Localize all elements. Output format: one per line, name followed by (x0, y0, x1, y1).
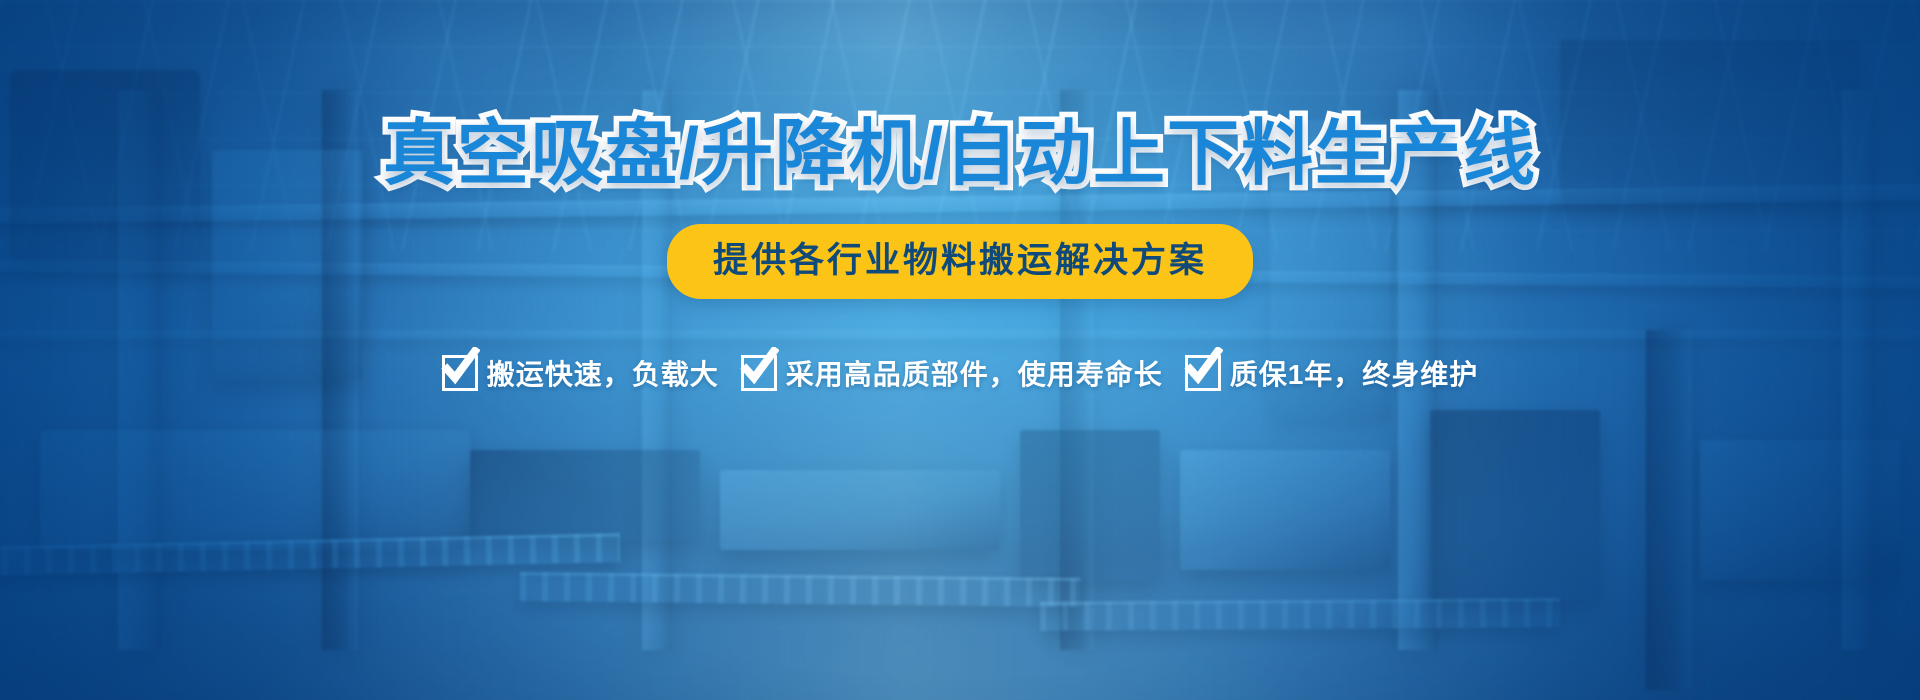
banner-content: 真空吸盘/升降机/自动上下料生产线 提供各行业物料搬运解决方案 搬运快速，负载大… (0, 0, 1920, 700)
banner-headline: 真空吸盘/升降机/自动上下料生产线 (383, 118, 1537, 190)
hero-banner: 真空吸盘/升降机/自动上下料生产线 提供各行业物料搬运解决方案 搬运快速，负载大… (0, 0, 1920, 700)
feature-label: 采用高品质部件，使用寿命长 (786, 353, 1163, 393)
feature-item: 搬运快速，负载大 (442, 353, 719, 393)
banner-subtitle-badge: 提供各行业物料搬运解决方案 (667, 224, 1253, 299)
feature-item: 质保1年，终身维护 (1185, 353, 1479, 393)
feature-label: 搬运快速，负载大 (487, 353, 719, 393)
feature-list: 搬运快速，负载大 采用高品质部件，使用寿命长 质保1年，终身维护 (442, 353, 1479, 393)
check-icon (442, 355, 478, 391)
check-icon (1185, 355, 1221, 391)
check-icon (741, 355, 777, 391)
feature-label: 质保1年，终身维护 (1230, 353, 1479, 393)
feature-item: 采用高品质部件，使用寿命长 (741, 353, 1163, 393)
